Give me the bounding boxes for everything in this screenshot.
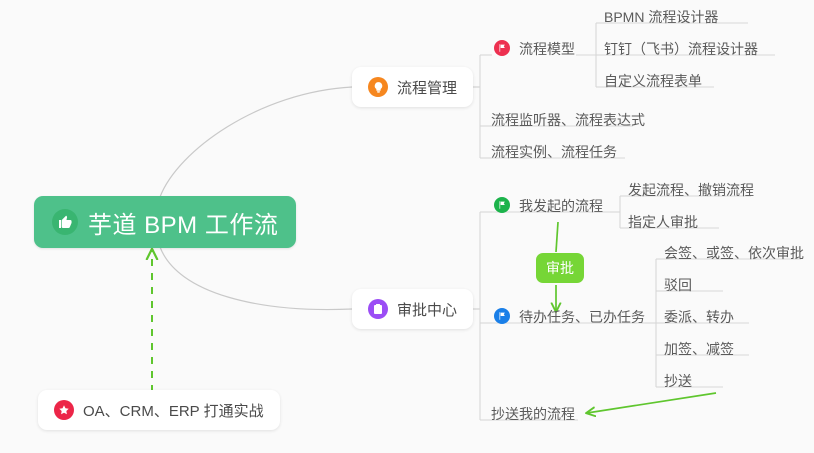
node-listener-expression-label: 流程监听器、流程表达式 bbox=[491, 113, 645, 127]
mindmap-canvas: 芋道 BPM 工作流 流程管理 流程模型 BPMN 流程设计器 钉钉（飞书）流程… bbox=[0, 0, 814, 453]
arrow-initiated-to-badge bbox=[556, 222, 558, 252]
flag-red-icon bbox=[494, 40, 510, 56]
branch-process-management[interactable]: 流程管理 bbox=[352, 67, 473, 107]
approval-badge-label: 审批 bbox=[546, 258, 574, 278]
node-my-initiated-label: 我发起的流程 bbox=[519, 199, 603, 213]
approval-badge[interactable]: 审批 bbox=[536, 253, 584, 283]
node-bpmn-designer-label: BPMN 流程设计器 bbox=[604, 10, 718, 24]
node-todo-done-tasks[interactable]: 待办任务、已办任务 bbox=[492, 300, 649, 328]
node-carbon-copy[interactable]: 抄送 bbox=[662, 364, 696, 392]
node-process-model[interactable]: 流程模型 bbox=[492, 32, 579, 60]
node-listener-expression[interactable]: 流程监听器、流程表达式 bbox=[489, 103, 649, 131]
flag-blue-icon bbox=[494, 308, 510, 324]
node-delegate-transfer[interactable]: 委派、转办 bbox=[662, 300, 738, 328]
node-process-model-label: 流程模型 bbox=[519, 42, 575, 56]
node-integration-practice-label: OA、CRM、ERP 打通实战 bbox=[83, 400, 264, 421]
root-label: 芋道 BPM 工作流 bbox=[88, 205, 278, 240]
connector-root-to-process-management bbox=[160, 87, 352, 197]
arrow-cc-to-ccme bbox=[587, 393, 716, 413]
flag-green-icon bbox=[494, 197, 510, 213]
node-countersign[interactable]: 会签、或签、依次审批 bbox=[662, 236, 808, 264]
node-reject[interactable]: 驳回 bbox=[662, 268, 696, 296]
node-custom-process-form-label: 自定义流程表单 bbox=[604, 74, 702, 88]
branch-process-management-label: 流程管理 bbox=[397, 77, 457, 98]
root-node[interactable]: 芋道 BPM 工作流 bbox=[34, 196, 296, 248]
node-todo-done-tasks-label: 待办任务、已办任务 bbox=[519, 310, 645, 324]
node-add-remove-sign-label: 加签、减签 bbox=[664, 342, 734, 356]
node-dingtalk-feishu-designer[interactable]: 钉钉（飞书）流程设计器 bbox=[602, 32, 762, 60]
branch-approval-center[interactable]: 审批中心 bbox=[352, 289, 473, 329]
node-cc-to-me-label: 抄送我的流程 bbox=[491, 407, 575, 421]
node-integration-practice[interactable]: OA、CRM、ERP 打通实战 bbox=[38, 390, 280, 430]
branch-approval-center-label: 审批中心 bbox=[397, 299, 457, 320]
node-countersign-label: 会签、或签、依次审批 bbox=[664, 246, 804, 260]
node-instance-task[interactable]: 流程实例、流程任务 bbox=[489, 135, 621, 163]
lightbulb-icon bbox=[368, 77, 388, 97]
node-reject-label: 驳回 bbox=[664, 278, 692, 292]
node-bpmn-designer[interactable]: BPMN 流程设计器 bbox=[602, 0, 722, 28]
node-start-cancel-process[interactable]: 发起流程、撤销流程 bbox=[626, 173, 758, 201]
node-delegate-transfer-label: 委派、转办 bbox=[664, 310, 734, 324]
node-carbon-copy-label: 抄送 bbox=[664, 374, 692, 388]
node-assignee-approval-label: 指定人审批 bbox=[628, 215, 698, 229]
thumbs-up-icon bbox=[52, 209, 78, 235]
clipboard-icon bbox=[368, 299, 388, 319]
node-my-initiated[interactable]: 我发起的流程 bbox=[492, 189, 607, 217]
node-cc-to-me[interactable]: 抄送我的流程 bbox=[489, 397, 579, 425]
node-add-remove-sign[interactable]: 加签、减签 bbox=[662, 332, 738, 360]
node-custom-process-form[interactable]: 自定义流程表单 bbox=[602, 64, 706, 92]
node-assignee-approval[interactable]: 指定人审批 bbox=[626, 205, 702, 233]
star-icon bbox=[54, 400, 74, 420]
node-dingtalk-feishu-designer-label: 钉钉（飞书）流程设计器 bbox=[604, 42, 758, 56]
connector-root-to-approval-center bbox=[160, 247, 352, 310]
node-instance-task-label: 流程实例、流程任务 bbox=[491, 145, 617, 159]
node-start-cancel-process-label: 发起流程、撤销流程 bbox=[628, 183, 754, 197]
